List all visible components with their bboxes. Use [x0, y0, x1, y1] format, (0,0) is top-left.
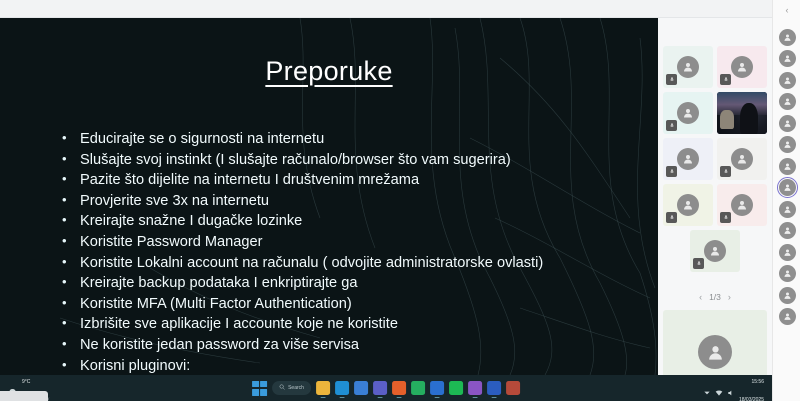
- search-icon: [279, 384, 285, 392]
- bullet-item: Pazite što dijelite na internetu I društ…: [58, 170, 658, 191]
- mic-muted-icon: [720, 212, 731, 223]
- mic-muted-icon: [666, 120, 677, 131]
- rail-avatar[interactable]: [779, 158, 796, 175]
- mic-muted-icon: [666, 74, 677, 85]
- rail-avatar[interactable]: [779, 308, 796, 325]
- taskbar-search-button[interactable]: Search: [272, 381, 311, 395]
- window-top-strip: [0, 0, 800, 18]
- taskbar-app-onenote[interactable]: [468, 381, 482, 395]
- bullet-item: Ne koristite jedan password za više serv…: [58, 335, 658, 356]
- rail-collapse-chevron-left-icon[interactable]: ‹: [773, 5, 800, 15]
- taskbar-app-word[interactable]: [487, 381, 501, 395]
- rail-avatar[interactable]: [779, 72, 796, 89]
- avatar: [704, 240, 726, 262]
- hidden-icons-icon[interactable]: [703, 384, 711, 392]
- clock-time: 15:56: [751, 379, 764, 385]
- mic-muted-icon: [720, 166, 731, 177]
- participant-tile[interactable]: [663, 138, 713, 180]
- windows-taskbar: 9°C Mostly cloudy Search: [0, 375, 772, 401]
- participant-tile[interactable]: [690, 230, 740, 272]
- rail-avatar[interactable]: [779, 93, 796, 110]
- taskbar-app-file-explorer[interactable]: [316, 381, 330, 395]
- teams-meeting-window: Preporuke Educirajte se o sigurnosti na …: [0, 0, 800, 401]
- taskbar-app-outlook[interactable]: [430, 381, 444, 395]
- rail-avatar[interactable]: [779, 287, 796, 304]
- bullet-item: Izbrišite sve aplikacije I accounte koje…: [58, 314, 658, 335]
- taskbar-app-firefox[interactable]: [392, 381, 406, 395]
- rail-avatar[interactable]: [779, 29, 796, 46]
- rail-avatar-list: [773, 24, 800, 330]
- taskbar-clock[interactable]: 15:56 18/03/2025: [739, 370, 764, 401]
- participant-tile-grid: [663, 46, 767, 276]
- slide-title: Preporuke: [0, 56, 658, 87]
- mic-muted-icon: [666, 212, 677, 223]
- avatar: [698, 335, 732, 369]
- bullet-item: Educirajte se o sigurnosti na internetu: [58, 129, 658, 150]
- taskbar-app-spotify[interactable]: [449, 381, 463, 395]
- bullet-item: Slušajte svoj instinkt (I slušajte račun…: [58, 150, 658, 171]
- rail-avatar-selected[interactable]: [779, 179, 796, 196]
- participant-tile[interactable]: [663, 184, 713, 226]
- avatar: [677, 194, 699, 216]
- avatar: [677, 102, 699, 124]
- avatar: [677, 148, 699, 170]
- pagination-next-chevron-right-icon[interactable]: ›: [728, 292, 731, 302]
- participant-tile[interactable]: [717, 184, 767, 226]
- participant-tile[interactable]: [663, 92, 713, 134]
- search-label: Search: [288, 385, 304, 391]
- avatar: [731, 194, 753, 216]
- bullet-item: Kreirajte backup podataka I enkriptirajt…: [58, 273, 658, 294]
- participant-pagination: ‹ 1/3 ›: [658, 292, 772, 302]
- taskbar-app-microsoft-teams[interactable]: [373, 381, 387, 395]
- volume-icon[interactable]: [727, 384, 735, 392]
- avatar: [731, 148, 753, 170]
- rail-avatar[interactable]: [779, 244, 796, 261]
- participant-rail: ‹: [772, 0, 800, 401]
- participant-tile[interactable]: [717, 46, 767, 88]
- mic-muted-icon: [720, 74, 731, 85]
- pagination-prev-chevron-left-icon[interactable]: ‹: [699, 292, 702, 302]
- bullet-item: Koristite MFA (Multi Factor Authenticati…: [58, 294, 658, 315]
- bullet-item: Koristite Lokalni account na računalu ( …: [58, 253, 658, 274]
- avatar: [677, 56, 699, 78]
- clock-date: 18/03/2025: [739, 397, 764, 401]
- bullet-item: Korisni pluginovi:: [58, 356, 658, 375]
- participant-tile[interactable]: [663, 46, 713, 88]
- taskbar-center-group: Search: [252, 381, 520, 396]
- rail-avatar[interactable]: [779, 222, 796, 239]
- bullet-item: Kreirajte snažne I dugačke lozinke: [58, 211, 658, 232]
- participant-video-feed: [717, 92, 767, 134]
- taskbar-app-microsoft-store[interactable]: [354, 381, 368, 395]
- taskbar-overflow-popup: [0, 391, 48, 401]
- taskbar-app-whatsapp[interactable]: [411, 381, 425, 395]
- participant-panel: ‹ 1/3 ›: [658, 18, 772, 401]
- start-button-windows-icon[interactable]: [252, 381, 267, 396]
- shared-slide-stage[interactable]: Preporuke Educirajte se o sigurnosti na …: [0, 18, 658, 375]
- participant-tile[interactable]: [717, 138, 767, 180]
- rail-avatar[interactable]: [779, 201, 796, 218]
- bullet-item: Provjerite sve 3x na internetu: [58, 191, 658, 212]
- taskbar-system-tray: 15:56 18/03/2025: [703, 370, 764, 401]
- slide-bullet-list: Educirajte se o sigurnosti na internetu …: [58, 129, 658, 375]
- avatar: [731, 56, 753, 78]
- rail-avatar[interactable]: [779, 50, 796, 67]
- rail-avatar[interactable]: [779, 265, 796, 282]
- rail-avatar[interactable]: [779, 115, 796, 132]
- mic-muted-icon: [666, 166, 677, 177]
- participant-tile-active-speaker[interactable]: [717, 92, 767, 134]
- mic-muted-icon: [693, 258, 704, 269]
- pagination-label: 1/3: [709, 292, 721, 302]
- taskbar-app-microsoft-edge[interactable]: [335, 381, 349, 395]
- rail-avatar[interactable]: [779, 136, 796, 153]
- weather-temperature: 9°C: [22, 379, 30, 385]
- bullet-item: Koristite Password Manager: [58, 232, 658, 253]
- network-icon[interactable]: [715, 384, 723, 392]
- taskbar-app-photos[interactable]: [506, 381, 520, 395]
